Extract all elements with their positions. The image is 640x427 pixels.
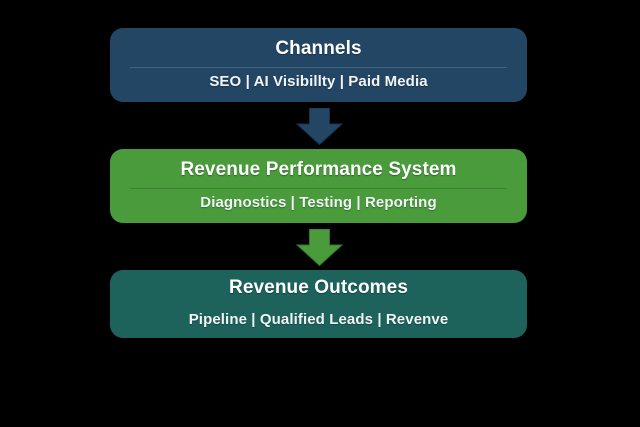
- flow-node-revenue-outcomes[interactable]: Revenue Outcomes Pipeline | Qualified Le…: [110, 270, 527, 338]
- flow-node-divider: [130, 188, 507, 189]
- flow-node-subtitle: SEO | AI Visibillty | Paid Media: [126, 73, 511, 92]
- flow-node-title: Channels: [126, 37, 511, 61]
- flow-node-channels[interactable]: Channels SEO | AI Visibillty | Paid Medi…: [110, 28, 527, 102]
- flow-node-revenue-performance-system[interactable]: Revenue Performance System Diagnostics |…: [110, 149, 527, 223]
- flow-diagram: Channels SEO | AI Visibillty | Paid Medi…: [0, 0, 640, 427]
- flow-node-subtitle: Diagnostics | Testing | Reporting: [126, 194, 511, 213]
- flow-node-divider: [130, 67, 507, 68]
- flow-node-title: Revenue Performance System: [126, 158, 511, 182]
- flow-node-title: Revenue Outcomes: [126, 276, 511, 300]
- arrow-down-icon: [296, 108, 343, 145]
- arrow-down-icon: [296, 229, 343, 266]
- flow-node-subtitle: Pipeline | Qualified Leads | Revenve: [126, 311, 511, 330]
